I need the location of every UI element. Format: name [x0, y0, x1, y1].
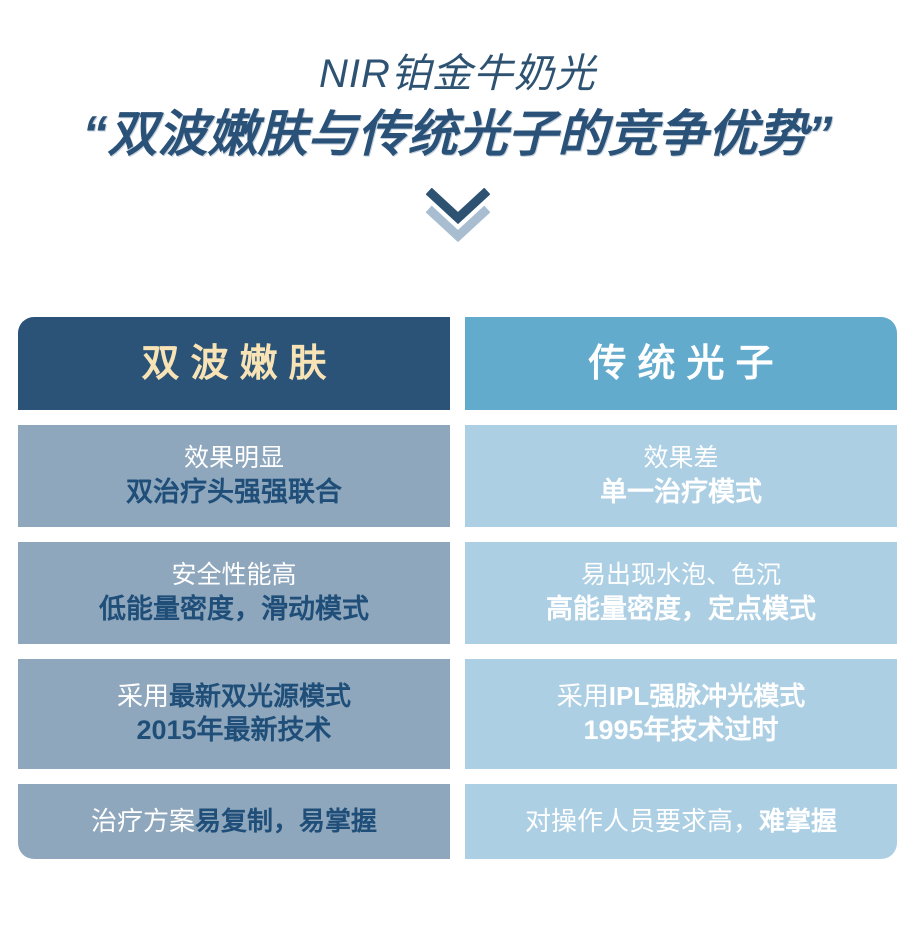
- column-header-label: 传统光子: [577, 345, 784, 383]
- cell-top-soft: 采用: [117, 681, 169, 711]
- cell-strong-text: 难掌握: [759, 806, 837, 836]
- cell-text: 对操作人员要求高，难掌握: [525, 804, 837, 838]
- table-header-row: 双波嫩肤 传统光子: [18, 317, 897, 410]
- page-title: “双波嫩肤与传统光子的竞争优势”: [0, 106, 915, 164]
- column-header-label: 双波嫩肤: [130, 345, 337, 383]
- cell-bottom-text: 双治疗头强强联合: [126, 475, 342, 511]
- cell-top-soft: 采用: [557, 681, 609, 711]
- cell-bottom-text: 1995年技术过时: [583, 713, 778, 749]
- table-row: 安全性能高 低能量密度，滑动模式 易出现水泡、色沉 高能量密度，定点模式: [18, 542, 897, 644]
- cell-top-text: 安全性能高: [171, 559, 296, 592]
- cell-top-text: 采用IPL强脉冲光模式: [557, 679, 805, 713]
- table-cell-right: 易出现水泡、色沉 高能量密度，定点模式: [465, 542, 897, 644]
- table-cell-left: 治疗方案易复制，易掌握: [18, 784, 450, 859]
- table-cell-right: 效果差 单一治疗模式: [465, 425, 897, 527]
- table-cell-right: 对操作人员要求高，难掌握: [465, 784, 897, 859]
- cell-soft-text: 治疗方案: [91, 806, 195, 836]
- cell-top-text: 效果差: [643, 442, 718, 475]
- title-block: NIR铂金牛奶光 “双波嫩肤与传统光子的竞争优势”: [0, 0, 915, 164]
- cell-bottom-text: 高能量密度，定点模式: [546, 592, 816, 628]
- cell-top-strong: IPL强脉冲光模式: [609, 681, 805, 711]
- table-row: 效果明显 双治疗头强强联合 效果差 单一治疗模式: [18, 425, 897, 527]
- table-cell-left: 采用最新双光源模式 2015年最新技术: [18, 659, 450, 769]
- column-header-traditional-ipl: 传统光子: [465, 317, 897, 410]
- table-cell-left: 安全性能高 低能量密度，滑动模式: [18, 542, 450, 644]
- table-row: 治疗方案易复制，易掌握 对操作人员要求高，难掌握: [18, 784, 897, 859]
- cell-bottom-text: 单一治疗模式: [600, 475, 762, 511]
- cell-text: 治疗方案易复制，易掌握: [91, 804, 377, 838]
- chevron-wrap: [0, 188, 915, 246]
- cell-bottom-text: 低能量密度，滑动模式: [99, 592, 369, 628]
- cell-top-text: 易出现水泡、色沉: [581, 559, 781, 592]
- column-header-dual-wave: 双波嫩肤: [18, 317, 450, 410]
- table-row: 采用最新双光源模式 2015年最新技术 采用IPL强脉冲光模式 1995年技术过…: [18, 659, 897, 769]
- cell-top-strong: 最新双光源模式: [169, 681, 351, 711]
- chevron-double-down-icon: [426, 188, 490, 242]
- cell-top-text: 效果明显: [184, 442, 284, 475]
- comparison-table: 双波嫩肤 传统光子 效果明显 双治疗头强强联合 效果差 单一治疗模式 安全性能高…: [18, 317, 897, 859]
- cell-top-text: 采用最新双光源模式: [117, 679, 351, 713]
- subtitle: NIR铂金牛奶光: [0, 52, 915, 96]
- table-cell-left: 效果明显 双治疗头强强联合: [18, 425, 450, 527]
- cell-bottom-text: 2015年最新技术: [136, 713, 331, 749]
- cell-soft-text: 对操作人员要求高，: [525, 806, 759, 836]
- cell-strong-text: 易复制，易掌握: [195, 806, 377, 836]
- table-cell-right: 采用IPL强脉冲光模式 1995年技术过时: [465, 659, 897, 769]
